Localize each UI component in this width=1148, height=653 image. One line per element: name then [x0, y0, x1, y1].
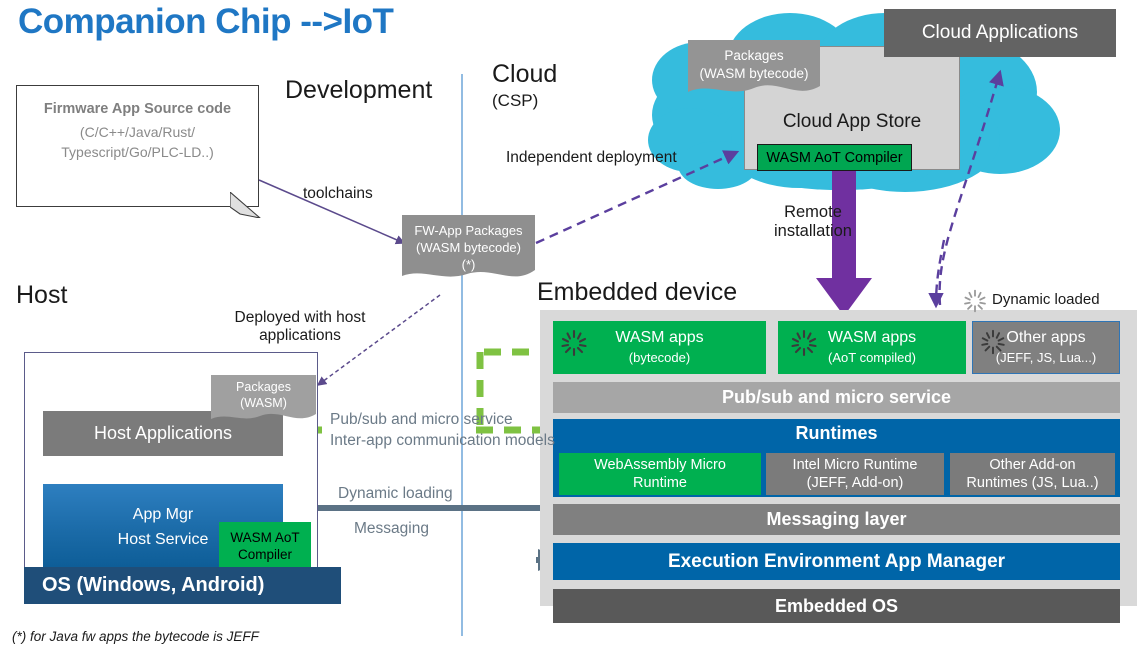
cloud-applications-box: Cloud Applications: [884, 9, 1116, 57]
firmware-source-code-box: Firmware App Source code (C/C++/Java/Rus…: [16, 85, 259, 207]
host-packages-callout: Packages (WASM): [210, 374, 317, 426]
arrow-remote-installation: [816, 168, 872, 316]
runtimes-header: Runtimes: [553, 419, 1120, 444]
scroll-shape: [210, 374, 317, 426]
deployed-line-1: Deployed with host: [220, 309, 380, 327]
section-heading-cloud: Cloud: [492, 60, 557, 89]
runtime-box-other-addon: Other Add-on Runtimes (JS, Lua..): [950, 453, 1115, 495]
legend-starburst-icon: [962, 288, 988, 314]
arrow-dynamic-loaded-down: [936, 240, 944, 306]
runtime-line-1: Intel Micro Runtime: [793, 456, 918, 474]
scroll-shape: [686, 38, 822, 100]
runtime-line-2: (JEFF, Add-on): [793, 474, 918, 492]
page-title: Companion Chip -->IoT: [18, 2, 393, 42]
source-line-1: (C/C++/Java/Rust/: [17, 122, 258, 142]
diagram-canvas: Companion Chip -->IoT Development Cloud …: [0, 0, 1148, 653]
runtime-line-2: Runtimes (JS, Lua..): [966, 474, 1098, 492]
app-detail: (AoT compiled): [828, 348, 916, 368]
legend-dynamic-loaded-label: Dynamic loaded: [992, 291, 1100, 308]
label-toolchains: toolchains: [303, 185, 373, 203]
pubsub-models-line-1: Pub/sub and micro service: [330, 409, 555, 430]
app-name: Other apps: [996, 328, 1096, 348]
embedded-pubsub-bar: Pub/sub and micro service: [553, 382, 1120, 413]
section-heading-development: Development: [285, 76, 432, 105]
cloud-aot-compiler-box: WASM AoT Compiler: [757, 144, 912, 171]
source-line-2: Typescript/Go/PLC-LD..): [17, 142, 258, 162]
section-subheading-csp: (CSP): [492, 91, 538, 111]
app-detail: (bytecode): [615, 348, 703, 368]
cloud-packages-callout: Packages (WASM bytecode): [686, 38, 822, 100]
app-name: WASM apps: [828, 328, 916, 348]
label-independent-deployment: Independent deployment: [506, 149, 677, 167]
label-deployed-with-host-applications: Deployed with host applications: [220, 309, 380, 345]
host-os-box: OS (Windows, Android): [24, 567, 341, 604]
embedded-os-bar: Embedded OS: [553, 589, 1120, 623]
dynamic-load-starburst-icon: [559, 328, 589, 358]
runtime-line-1: Other Add-on: [966, 456, 1098, 474]
fw-app-packages-callout: FW-App Packages (WASM bytecode) (*): [401, 214, 536, 286]
source-heading: Firmware App Source code: [17, 101, 258, 117]
section-heading-host: Host: [16, 281, 67, 310]
remote-line-2: installation: [774, 222, 852, 241]
host-aot-compiler-box: WASM AoT Compiler: [219, 522, 311, 569]
deployed-line-2: applications: [220, 327, 380, 345]
label-messaging: Messaging: [354, 520, 429, 538]
embedded-app-manager-bar: Execution Environment App Manager: [553, 543, 1120, 580]
dynamic-load-starburst-icon: [789, 328, 819, 358]
app-detail: (JEFF, JS, Lua...): [996, 348, 1096, 368]
label-remote-installation: Remote installation: [774, 203, 852, 241]
runtime-line-2: Runtime: [594, 474, 726, 492]
runtime-line-1: WebAssembly Micro: [594, 456, 726, 474]
app-name: WASM apps: [615, 328, 703, 348]
footnote: (*) for Java fw apps the bytecode is JEF…: [12, 629, 259, 644]
cloud-app-store-label: Cloud App Store: [745, 111, 959, 133]
host-aot-line-1: WASM AoT: [230, 529, 299, 546]
remote-line-1: Remote: [774, 203, 852, 222]
scroll-shape: [401, 214, 536, 286]
host-aot-line-2: Compiler: [230, 546, 299, 563]
runtime-box-intel-micro: Intel Micro Runtime (JEFF, Add-on): [766, 453, 944, 495]
embedded-messaging-layer-bar: Messaging layer: [553, 504, 1120, 535]
source-box-pointer: [230, 192, 264, 218]
label-pubsub-inter-app: Pub/sub and micro service Inter-app comm…: [330, 409, 555, 451]
section-heading-embedded-device: Embedded device: [537, 278, 737, 307]
pubsub-models-line-2: Inter-app communication models: [330, 430, 555, 451]
label-dynamic-loading: Dynamic loading: [338, 485, 453, 503]
dynamic-load-starburst-icon: [979, 328, 1007, 356]
runtime-box-webassembly-micro: WebAssembly Micro Runtime: [559, 453, 761, 495]
